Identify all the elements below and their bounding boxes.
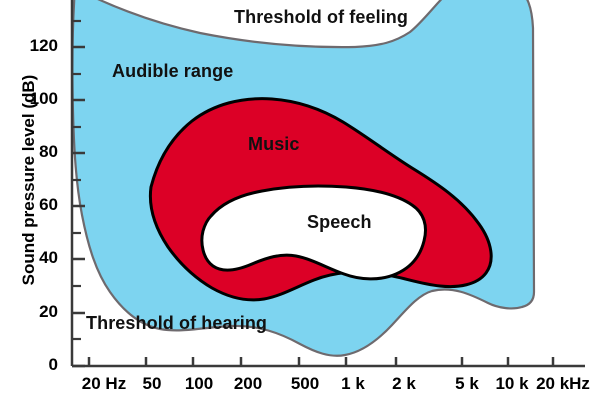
annotation-music: Music (248, 134, 300, 155)
annotation-threshold-of-hearing: Threshold of hearing (86, 313, 267, 334)
x-tick-label-10k: 10 k (495, 374, 528, 394)
x-tick-label-50: 50 (143, 374, 162, 394)
annotation-speech: Speech (307, 212, 372, 233)
x-tick-label-20khz: 20 kHz (536, 374, 590, 394)
annotation-threshold-of-feeling: Threshold of feeling (234, 7, 408, 28)
x-tick-label-1k: 1 k (341, 374, 365, 394)
annotation-audible-range: Audible range (112, 61, 233, 82)
x-tick-label-500: 500 (291, 374, 319, 394)
hearing-field-chart: Sound pressure level (dB) 120 100 80 60 … (0, 0, 600, 400)
y-tick-label-40: 40 (12, 248, 58, 268)
y-tick-label-120: 120 (12, 36, 58, 56)
y-tick-label-80: 80 (12, 142, 58, 162)
y-tick-label-20: 20 (12, 302, 58, 322)
x-tick-label-20hz: 20 Hz (82, 374, 126, 394)
y-tick-label-60: 60 (12, 195, 58, 215)
x-tick-label-100: 100 (185, 374, 213, 394)
x-tick-label-2k: 2 k (392, 374, 416, 394)
x-tick-label-5k: 5 k (455, 374, 479, 394)
x-axis-ticks (89, 357, 553, 366)
x-tick-label-200: 200 (234, 374, 262, 394)
y-tick-label-0: 0 (12, 355, 58, 375)
chart-plot-area (0, 0, 600, 400)
y-tick-label-100: 100 (12, 89, 58, 109)
